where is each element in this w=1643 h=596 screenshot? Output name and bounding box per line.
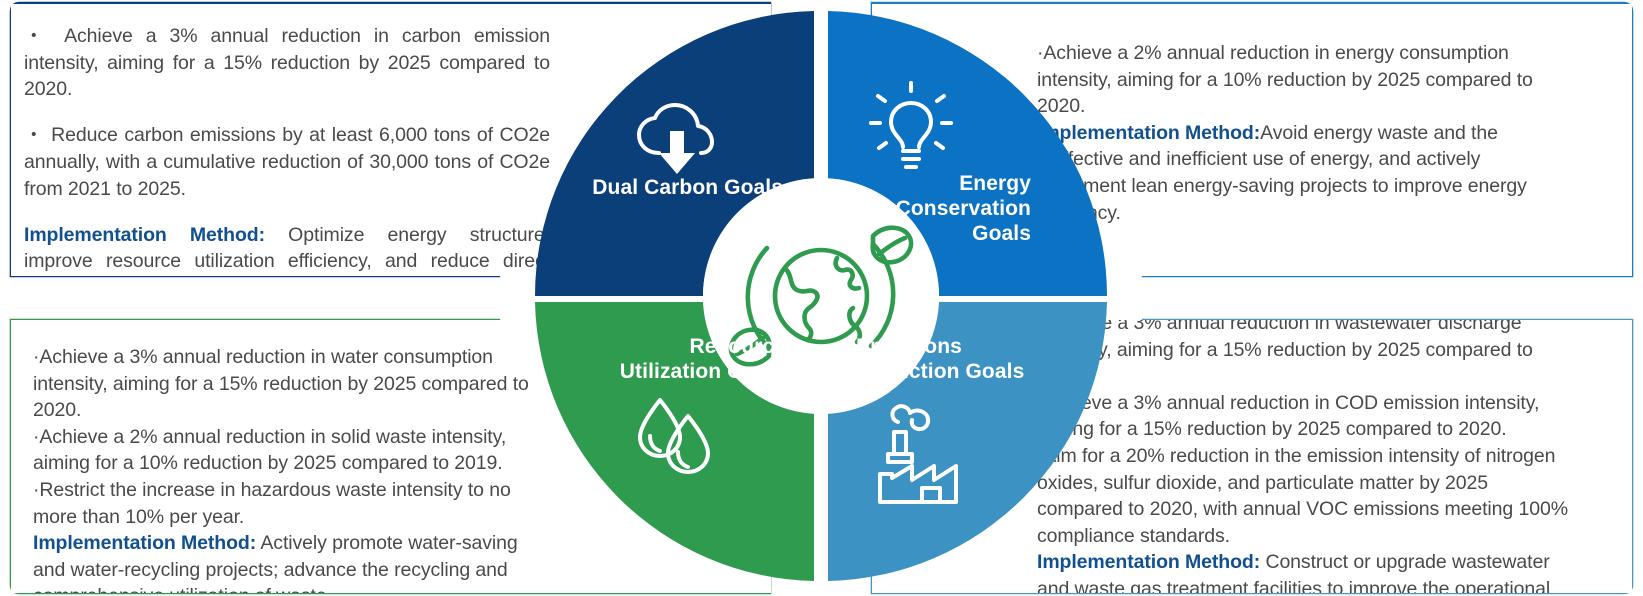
segment-label-dual-carbon-line-1: Dual Carbon Goals <box>553 176 783 201</box>
segment-label-emissions-line-2: Reduction Goals <box>856 360 1032 385</box>
panel-top-left-method-label: Implementation Method: <box>24 224 265 246</box>
segment-label-resource-line-1: Resource <box>560 335 786 360</box>
panel-bottom-left-bullet-2: ·Achieve a 2% annual reduction in solid … <box>33 424 545 477</box>
panel-top-left-method: Implementation Method: Optimize energy s… <box>24 222 550 276</box>
segment-label-dual-carbon: Dual Carbon Goals <box>553 176 783 201</box>
segment-label-emissions-line-1: Emissions <box>856 335 1032 360</box>
segment-label-resource-utilization: Resource Utilization Goals <box>560 335 786 385</box>
panel-top-left-bullet-2: ・ Reduce carbon emissions by at least 6,… <box>24 122 550 202</box>
segment-label-energy-line-2: Conservation <box>859 197 1031 222</box>
segment-label-energy-line-3: Goals <box>859 222 1031 247</box>
panel-top-left-body: ・ Achieve a 3% annual reduction in carbo… <box>24 23 550 276</box>
panel-bottom-left-body: ·Achieve a 3% annual reduction in water … <box>33 344 545 593</box>
panel-bottom-left-bullet-3: ·Restrict the increase in hazardous wast… <box>33 477 545 530</box>
goal-wheel <box>521 0 1121 596</box>
panel-bottom-left-method: Implementation Method: Actively promote … <box>33 530 545 593</box>
segment-label-resource-line-2: Utilization Goals <box>560 360 786 385</box>
sustainability-goals-diagram: ・ Achieve a 3% annual reduction in carbo… <box>0 0 1643 596</box>
panel-top-left-bullet-1: ・ Achieve a 3% annual reduction in carbo… <box>24 23 550 103</box>
segment-label-emissions-reduction: Emissions Reduction Goals <box>856 335 1032 385</box>
segment-label-energy-line-1: Energy <box>859 172 1031 197</box>
segment-label-energy-conservation: Energy Conservation Goals <box>859 172 1031 246</box>
panel-bottom-left-method-label: Implementation Method: <box>33 532 256 554</box>
panel-bottom-left-bullet-1: ·Achieve a 3% annual reduction in water … <box>33 344 545 424</box>
